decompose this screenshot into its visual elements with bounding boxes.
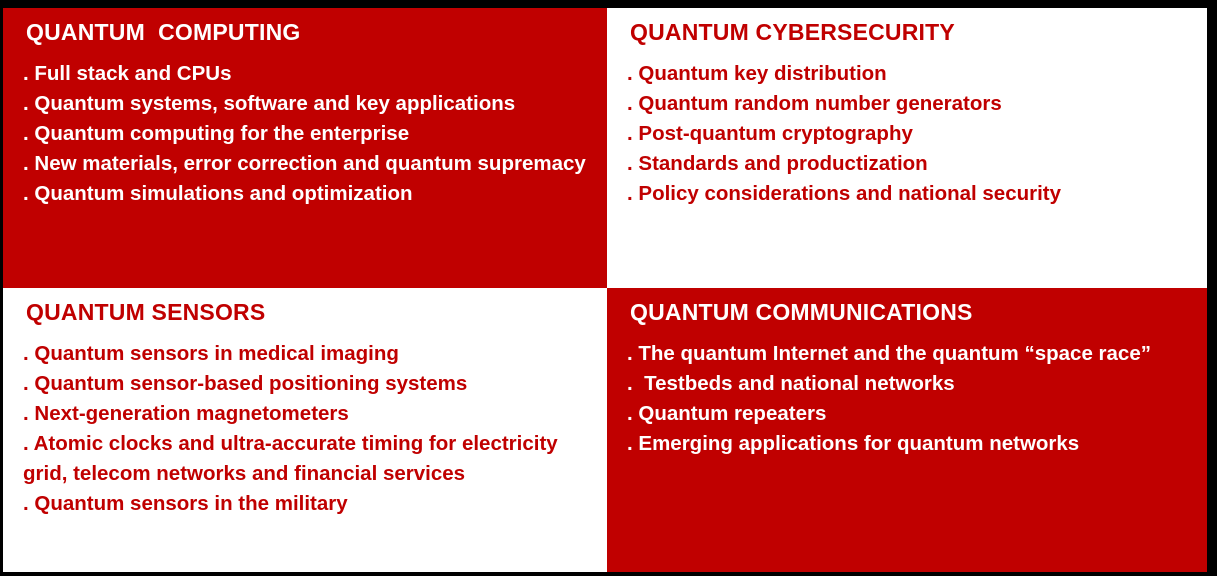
bullet-item: . Next-generation magnetometers <box>23 399 593 429</box>
bullet-item: . Quantum repeaters <box>627 399 1193 429</box>
frame-border-left <box>0 0 3 576</box>
bullet-item: . The quantum Internet and the quantum “… <box>627 339 1193 369</box>
bullet-list-quantum-computing: . Full stack and CPUs . Quantum systems,… <box>23 59 593 209</box>
bullet-list-quantum-cybersecurity: . Quantum key distribution . Quantum ran… <box>627 59 1193 209</box>
bullet-item: . Atomic clocks and ultra-accurate timin… <box>23 429 593 489</box>
panel-quantum-computing: QUANTUM COMPUTING . Full stack and CPUs … <box>3 8 607 288</box>
panel-quantum-communications: QUANTUM COMMUNICATIONS . The quantum Int… <box>607 288 1207 572</box>
bullet-item: . Standards and productization <box>627 149 1193 179</box>
bullet-item: . Post-quantum cryptography <box>627 119 1193 149</box>
bullet-item: . Quantum sensors in the military <box>23 489 593 519</box>
bullet-item: . Quantum sensor-based positioning syste… <box>23 369 593 399</box>
quadrant-slide: QUANTUM COMPUTING . Full stack and CPUs … <box>0 0 1217 576</box>
bullet-item: . Quantum key distribution <box>627 59 1193 89</box>
bullet-item: . Quantum random number generators <box>627 89 1193 119</box>
bullet-list-quantum-sensors: . Quantum sensors in medical imaging . Q… <box>23 339 593 519</box>
panel-quantum-cybersecurity: QUANTUM CYBERSECURITY . Quantum key dist… <box>607 8 1207 288</box>
bullet-item: . Quantum simulations and optimization <box>23 179 593 209</box>
frame-border-right <box>1207 0 1217 576</box>
frame-border-bottom <box>0 572 1217 576</box>
panel-quantum-sensors: QUANTUM SENSORS . Quantum sensors in med… <box>3 288 607 572</box>
bullet-item: . New materials, error correction and qu… <box>23 149 593 179</box>
bullet-item: . Policy considerations and national sec… <box>627 179 1193 209</box>
frame-border-top <box>0 0 1217 8</box>
bullet-item: . Quantum computing for the enterprise <box>23 119 593 149</box>
panel-title-quantum-sensors: QUANTUM SENSORS <box>26 300 593 325</box>
bullet-item: . Full stack and CPUs <box>23 59 593 89</box>
bullet-list-quantum-communications: . The quantum Internet and the quantum “… <box>627 339 1193 459</box>
bullet-item: . Quantum systems, software and key appl… <box>23 89 593 119</box>
bullet-item: . Testbeds and national networks <box>627 369 1193 399</box>
quadrant-grid: QUANTUM COMPUTING . Full stack and CPUs … <box>3 8 1207 572</box>
panel-title-quantum-cybersecurity: QUANTUM CYBERSECURITY <box>630 20 1193 45</box>
bullet-item: . Emerging applications for quantum netw… <box>627 429 1193 459</box>
panel-title-quantum-computing: QUANTUM COMPUTING <box>26 20 593 45</box>
panel-title-quantum-communications: QUANTUM COMMUNICATIONS <box>630 300 1193 325</box>
bullet-item: . Quantum sensors in medical imaging <box>23 339 593 369</box>
